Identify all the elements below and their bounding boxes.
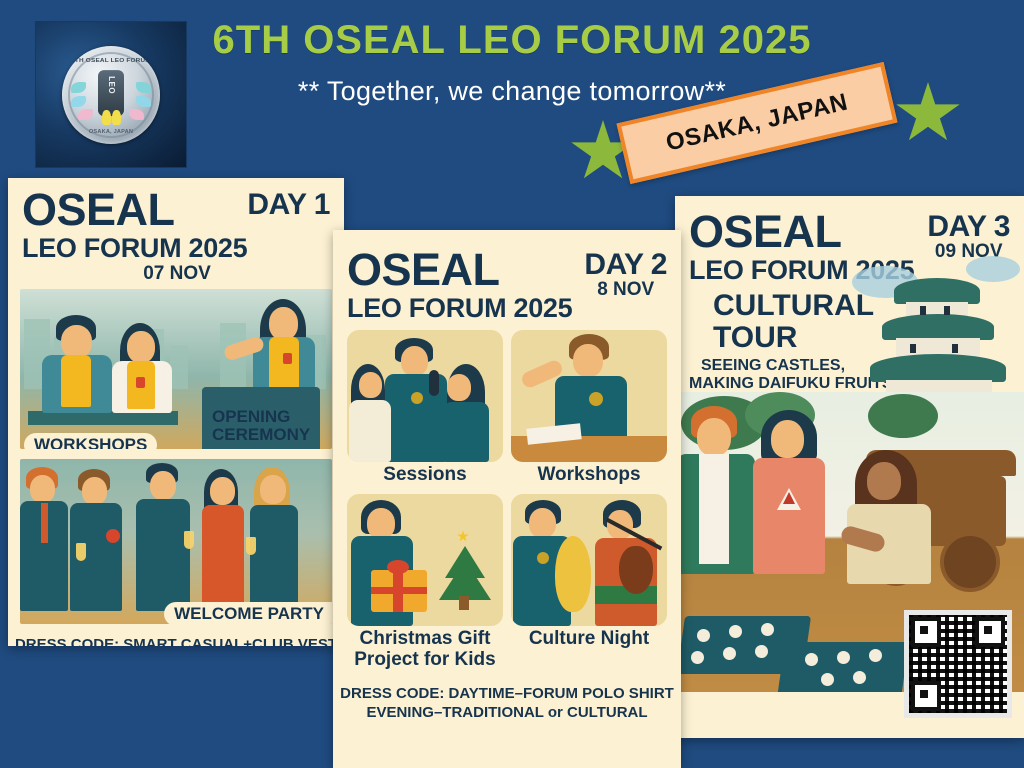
poster1-dress-code-line-1: DRESS CODE: SMART CASUAL+CLUB VEST (8, 636, 344, 646)
page-title: 6TH OSEAL LEO FORUM 2025 (0, 18, 1024, 63)
poster2-header: OSEAL LEO FORUM 2025 DAY 2 8 NOV (333, 230, 681, 322)
poster2-caption-sessions: Sessions (347, 465, 503, 486)
christmas-gift-illustration (347, 494, 503, 626)
poster2-caption-christmas: Christmas Gift Project for Kids (347, 629, 503, 671)
star-icon (457, 530, 469, 542)
poster2-dress-code-line-1: DRESS CODE: DAYTIME–FORUM POLO SHIRT (333, 685, 681, 704)
child-figure-icon (112, 110, 121, 125)
qr-code-pattern (909, 615, 1007, 713)
poster1-day-label: DAY 1 (247, 190, 330, 220)
poster-collage: 6TH OSEAL LEO FORUM LEO OSAKA, JAPAN 6TH… (0, 0, 1024, 768)
poster1-caption-workshops: WORKSHOPS (24, 433, 157, 449)
logo-arc-bottom-text: OSAKA, JAPAN (62, 129, 160, 134)
poster2-caption-workshops: Workshops (511, 465, 667, 486)
poster1-caption-opening-ceremony: OPENINGCEREMONY (212, 408, 310, 444)
qr-finder-icon (911, 681, 941, 711)
poster3-day-label: DAY 3 (927, 212, 1010, 242)
poster2-tile-culture-night: Culture Night (511, 494, 667, 671)
poster2-day-badge: DAY 2 8 NOV (584, 250, 667, 301)
poster2-tile-grid: Sessions Workshops (347, 330, 667, 671)
poster-day-1[interactable]: OSEAL LEO FORUM 2025 DAY 1 07 NOV (8, 178, 344, 646)
poster2-tile-christmas: Christmas Gift Project for Kids (347, 494, 503, 671)
poster1-illustration-bottom: WELCOME PARTY (20, 459, 332, 624)
poster1-day-badge: DAY 1 (247, 190, 330, 220)
poster-day-3[interactable]: OSEAL LEO FORUM 2025 DAY 3 09 NOV CULTUR… (675, 196, 1024, 738)
dove-icon (129, 109, 144, 120)
poster2-day-label: DAY 2 (584, 250, 667, 280)
poster2-dress-code-line-2: EVENING–TRADITIONAL or CULTURAL (333, 704, 681, 723)
poster1-subtitle: LEO FORUM 2025 (22, 234, 332, 262)
poster1-caption-welcome-party: WELCOME PARTY (164, 602, 332, 624)
poster1-date: 07 NOV (22, 263, 332, 285)
poster1-illustration-top: OPENINGCEREMONY WORKSHOPS (20, 289, 332, 449)
poster2-date: 8 NOV (584, 280, 667, 301)
culture-night-illustration (511, 494, 667, 626)
sessions-illustration (347, 330, 503, 462)
qr-code[interactable] (904, 610, 1012, 718)
poster2-caption-culture-night: Culture Night (511, 629, 667, 650)
workshops-illustration (511, 330, 667, 462)
child-figure-icon (102, 110, 111, 125)
poster2-tile-sessions: Sessions (347, 330, 503, 486)
poster-day-2[interactable]: OSEAL LEO FORUM 2025 DAY 2 8 NOV (333, 230, 681, 768)
qr-finder-icon (911, 617, 941, 647)
poster2-tile-workshops: Workshops (511, 330, 667, 486)
qr-finder-icon (975, 617, 1005, 647)
microphone-icon (429, 370, 439, 396)
poster1-header: OSEAL LEO FORUM 2025 DAY 1 07 NOV (8, 178, 344, 285)
